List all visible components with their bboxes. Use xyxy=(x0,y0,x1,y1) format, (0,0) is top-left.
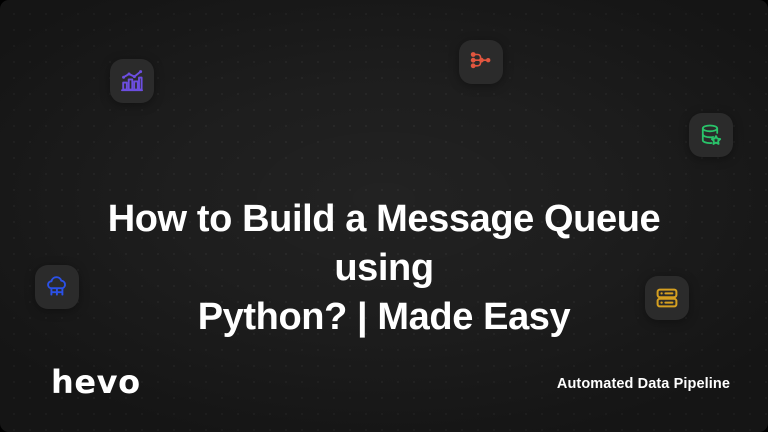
bar-chart-trend-tile xyxy=(110,59,154,103)
page-title: How to Build a Message Queue using Pytho… xyxy=(0,195,768,342)
node-tree-icon xyxy=(468,49,494,75)
database-star-tile xyxy=(689,113,733,157)
hevo-logo: hevo xyxy=(51,366,141,398)
database-star-icon xyxy=(698,122,724,148)
node-tree-tile xyxy=(459,40,503,84)
bar-chart-trend-icon xyxy=(119,68,145,94)
tagline: Automated Data Pipeline xyxy=(557,377,730,392)
blog-banner-card: How to Build a Message Queue using Pytho… xyxy=(0,0,768,432)
